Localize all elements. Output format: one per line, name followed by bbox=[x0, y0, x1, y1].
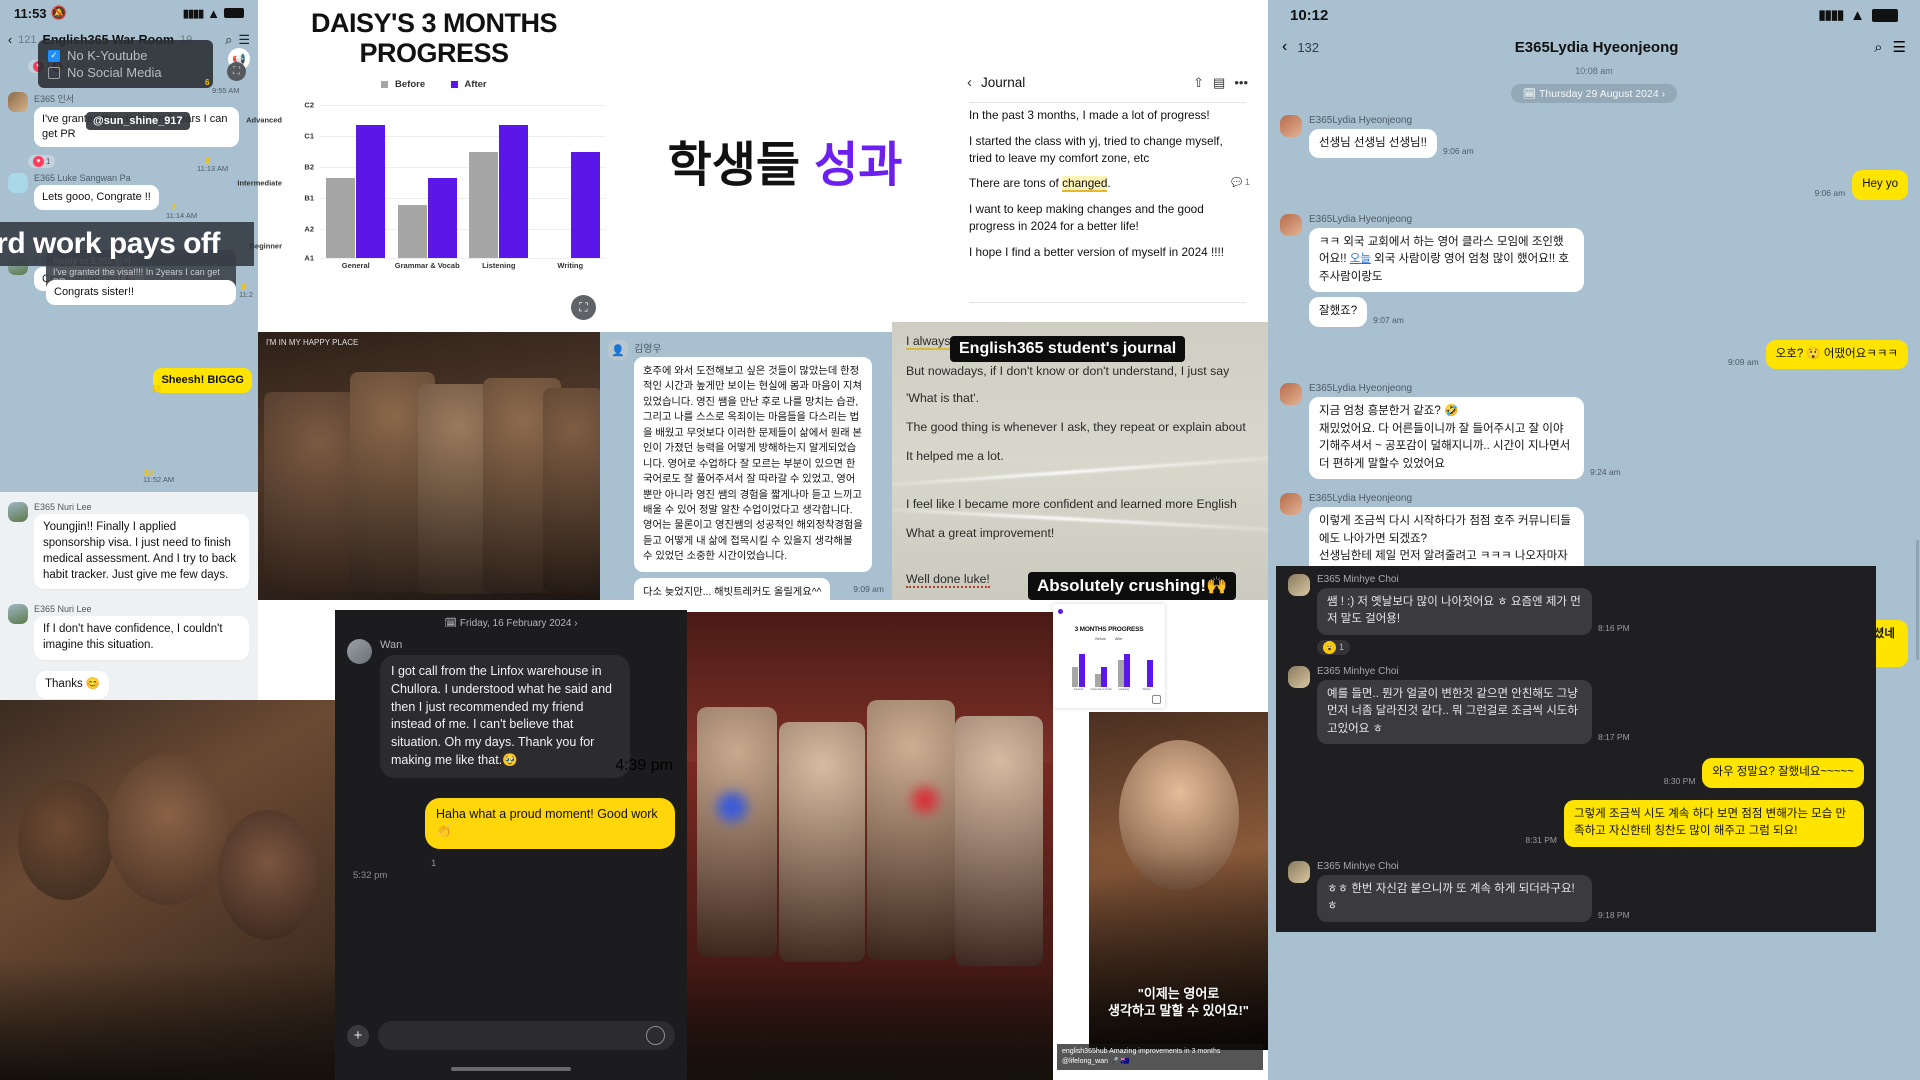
message-sender: E365 Nuri Lee bbox=[34, 502, 249, 512]
sticker-caption: Sheesh! BIGGG bbox=[153, 368, 252, 393]
mention-chip[interactable]: @sun_shine_917 bbox=[86, 112, 190, 130]
journal-paragraph: I want to keep making changes and the go… bbox=[969, 201, 1246, 235]
mini-bar-after bbox=[1101, 667, 1107, 687]
message-bubble-outgoing[interactable]: 와우 정말요? 잘했네요~~~~~ bbox=[1702, 758, 1864, 787]
message-input-bar: + bbox=[347, 1021, 675, 1050]
bar-group bbox=[535, 98, 607, 258]
message-bubble[interactable]: 선생님 선생님 선생님!! bbox=[1309, 129, 1437, 158]
message-row-outgoing: Haha what a proud moment! Good work 👏 bbox=[335, 798, 687, 850]
message-row: E365Lydia Hyeonjeong 지금 엄청 흥분한거 같죠? 🤣 재밌… bbox=[1268, 381, 1920, 481]
student-video-thumbnail: "이제는 영어로 생각하고 말할 수 있어요!" bbox=[1089, 712, 1268, 1050]
emoji-icon[interactable] bbox=[646, 1026, 665, 1045]
message-time: 9:06 am bbox=[1443, 146, 1474, 158]
chart-plot-area: C2 C1 B2 B1 A2 A1 Advanced Intermediate … bbox=[258, 98, 610, 288]
korean-review-panel: 👤 김영우 호주에 와서 도전해보고 싶은 것들이 많았는데 한정적인 시간과 … bbox=[600, 332, 892, 600]
x-tick-label: Grammar & Vocab bbox=[392, 261, 464, 270]
mini-bar-group bbox=[1090, 667, 1113, 687]
home-indicator bbox=[451, 1067, 571, 1071]
mini-chart-title: 3 MONTHS PROGRESS bbox=[1053, 604, 1165, 633]
wifi-icon: ▲ bbox=[207, 6, 220, 21]
bars-area bbox=[320, 98, 606, 258]
message-time: 8:30 PM bbox=[1664, 776, 1696, 788]
bar-after bbox=[499, 125, 528, 258]
mini-x-tick-label: Writing bbox=[1135, 688, 1158, 691]
right-chat-panel: 😱 10:12 ▮▮▮▮ ▲ ‹ 132 E365Lydia Hyeonjeon… bbox=[1268, 0, 1920, 1080]
y-tick-label: B2 bbox=[304, 163, 314, 172]
surprised-emoji-icon: 😮 bbox=[1323, 641, 1336, 654]
bar-group bbox=[463, 98, 535, 258]
message-row: E365 Minhye Choi 예를 들면.. 뭔가 얼굴이 변한것 같으면 … bbox=[1276, 664, 1876, 746]
back-count: 132 bbox=[1297, 40, 1319, 55]
chart-title: DAISY'S 3 MONTHS PROGRESS bbox=[258, 0, 610, 68]
x-tick-label: General bbox=[320, 261, 392, 270]
mini-bar-before bbox=[1072, 667, 1078, 687]
inline-link[interactable]: 오늘 bbox=[1350, 253, 1371, 265]
checklist-label: No K-Youtube bbox=[67, 48, 147, 63]
message-row: E365 Luke Sangwan Pa Lets gooo, Congrate… bbox=[0, 170, 258, 213]
message-bubble[interactable]: 쌤 ! :) 저 옛날보다 많이 나아젓어요 ㅎ 요즘엔 제가 먼저 말도 걸어… bbox=[1317, 588, 1592, 635]
date-chip-label: Thursday 29 August 2024 bbox=[1539, 88, 1659, 100]
checklist-label: No Social Media bbox=[67, 65, 162, 80]
mini-chart-legend: Before After bbox=[1053, 637, 1165, 641]
legend-swatch-before bbox=[381, 81, 388, 88]
message-time: 8:31 PM bbox=[1525, 835, 1557, 847]
avatar[interactable] bbox=[8, 604, 28, 624]
mini-x-tick-label: Grammar & Vocab bbox=[1090, 688, 1113, 691]
instagram-meta: english365hub Amazing improvements in 3 … bbox=[1057, 1044, 1263, 1070]
legend-item-before: Before bbox=[381, 79, 425, 90]
message-sender: E365 Minhye Choi bbox=[1317, 666, 1630, 677]
bar-group bbox=[320, 98, 392, 258]
y-band-label: Advanced bbox=[246, 116, 282, 125]
avatar[interactable] bbox=[1280, 383, 1302, 405]
video-line: The good thing is whenever I ask, they r… bbox=[906, 420, 1254, 434]
bar-before bbox=[326, 178, 355, 258]
avatar[interactable] bbox=[1288, 574, 1310, 596]
comment-count-badge[interactable]: 💬 1 bbox=[1231, 176, 1250, 189]
message-time: 11:13 AM bbox=[197, 164, 228, 173]
divider bbox=[969, 302, 1246, 303]
expand-icon[interactable]: ⛶ bbox=[571, 295, 596, 320]
video-chip-bottom: Absolutely crushing!🙌 bbox=[1028, 572, 1236, 600]
message-sender: 김영우 bbox=[634, 340, 872, 355]
back-count: 121 bbox=[18, 34, 36, 46]
message-time: 9:07 am bbox=[1373, 315, 1404, 327]
legend-label-before: Before bbox=[395, 79, 425, 90]
y-band-label: Intermediate bbox=[237, 179, 282, 188]
y-tick-label: A2 bbox=[304, 225, 314, 234]
plus-icon[interactable]: + bbox=[347, 1025, 369, 1047]
unread-badge: 6 bbox=[205, 78, 209, 87]
message-sender: E365 Minhye Choi bbox=[1317, 861, 1630, 872]
message-row: E365 Minhye Choi 쌤 ! :) 저 옛날보다 많이 나아젓어요 … bbox=[1276, 572, 1876, 637]
video-line: Well done luke! bbox=[906, 572, 990, 588]
dot-indicator bbox=[1058, 609, 1063, 614]
mini-bar-group bbox=[1135, 660, 1158, 687]
person-icon[interactable]: 👤 bbox=[608, 340, 628, 360]
club-group-photo bbox=[687, 612, 1053, 1080]
y-tick-label: A1 bbox=[304, 254, 314, 263]
journal-paragraph: In the past 3 months, I made a lot of pr… bbox=[969, 107, 1246, 124]
signal-icon: ▮▮▮▮ bbox=[1819, 7, 1844, 23]
review-time: 9:09 am bbox=[853, 584, 884, 594]
reaction-pill[interactable]: ♥ 1 bbox=[28, 155, 55, 168]
chevron-right-icon: › bbox=[574, 618, 577, 629]
avatar[interactable] bbox=[8, 173, 28, 193]
bell-slash-icon: 🔕 bbox=[51, 5, 67, 21]
avatar[interactable] bbox=[347, 639, 372, 664]
mini-x-tick-label: General bbox=[1067, 688, 1090, 691]
more-dots-icon[interactable]: ••• bbox=[1234, 75, 1248, 90]
back-button[interactable]: ‹ bbox=[8, 33, 12, 47]
message-row-outgoing: 9:06 am Hey yo bbox=[1268, 168, 1920, 201]
checklist-item[interactable]: No Social Media bbox=[48, 65, 203, 80]
checkbox-checked-icon[interactable]: ✓ bbox=[48, 50, 60, 62]
video-line: What a great improvement! bbox=[906, 526, 1254, 540]
message-sender: E365Lydia Hyeonjeong bbox=[1309, 115, 1474, 126]
bar-after bbox=[571, 152, 600, 259]
video-line: But nowadays, if I don't know or don't u… bbox=[906, 364, 1254, 378]
group-photo-pub: I'M IN MY HAPPY PLACE bbox=[258, 332, 600, 600]
mini-legend-after: After bbox=[1115, 637, 1123, 641]
message-bubble-outgoing[interactable]: Hey yo bbox=[1852, 170, 1908, 199]
back-button[interactable]: ‹ bbox=[1282, 38, 1287, 56]
review-bubble[interactable]: 호주에 와서 도전해보고 싶은 것들이 많았는데 한정적인 시간과 높게만 보이… bbox=[634, 357, 872, 572]
message-bubble[interactable]: Thanks 😊 bbox=[36, 671, 109, 699]
status-bar: 10:12 ▮▮▮▮ ▲ bbox=[1268, 0, 1920, 30]
paragraph-pre: There are tons of bbox=[969, 176, 1062, 190]
message-time: 11:14 AM bbox=[166, 211, 197, 220]
sticker-message-bubble[interactable]: Sheesh! BIGGG bbox=[153, 368, 252, 393]
message-row: E365 Nuri Lee Youngjin!! Finally I appli… bbox=[0, 492, 258, 592]
avatar[interactable] bbox=[1280, 214, 1302, 236]
journal-header: ‹ Journal ⇧ ▤ ••• bbox=[955, 66, 1260, 95]
message-row-outgoing: 8:31 PM 그렇게 조금씩 시도 계속 하다 보면 점점 변해가는 모습 만… bbox=[1276, 798, 1876, 849]
y-tick-label: B1 bbox=[304, 194, 314, 203]
video-line: 'What is that'. bbox=[906, 391, 1254, 405]
message-sender: E365 Minhye Choi bbox=[1317, 574, 1630, 585]
journal-paragraph: I hope I find a better version of myself… bbox=[969, 244, 1246, 261]
mini-bar-before bbox=[1095, 674, 1101, 687]
date-chip-label: Friday, 16 February 2024 bbox=[460, 618, 572, 629]
message-sender: E365Lydia Hyeonjeong bbox=[1309, 214, 1584, 225]
video-text: I always pretend to under... before. But… bbox=[906, 332, 1254, 588]
search-icon[interactable]: ⌕ bbox=[225, 32, 232, 48]
share-icon[interactable]: ⇧ bbox=[1193, 75, 1204, 91]
legend-item-after: After bbox=[451, 79, 486, 90]
avatar[interactable] bbox=[8, 92, 28, 112]
message-row: E365 Minhye Choi ㅎㅎ 한번 자신감 붙으니까 또 계속 하게 … bbox=[1276, 859, 1876, 924]
review-bubble-2[interactable]: 다소 늦었지만... 해빗트레커도 올릴게요^^ bbox=[634, 578, 830, 607]
mini-bar-group bbox=[1067, 654, 1090, 687]
message-sender: E365 Nuri Lee bbox=[34, 604, 249, 614]
reaction-pill[interactable]: 😮 1 bbox=[1317, 640, 1350, 655]
message-time: 8:16 PM bbox=[1598, 623, 1630, 635]
video-caption: "이제는 영어로 생각하고 말할 수 있어요!" bbox=[1089, 985, 1268, 1020]
mini-bar-after bbox=[1147, 660, 1153, 687]
bar-after bbox=[428, 178, 457, 258]
reaction-count: 1 bbox=[1339, 642, 1344, 652]
journal-paragraph-highlighted: There are tons of changed. 💬 1 bbox=[969, 175, 1246, 192]
message-row: Thanks 😊 bbox=[0, 663, 258, 702]
y-tick-label: C2 bbox=[304, 101, 314, 110]
avatar[interactable] bbox=[8, 502, 28, 522]
hamburger-menu-icon[interactable]: ☰ bbox=[238, 32, 250, 48]
message-bubble-outgoing[interactable]: Haha what a proud moment! Good work 👏 bbox=[425, 798, 675, 850]
journal-panel: ‹ Journal ⇧ ▤ ••• In the past 3 months, … bbox=[955, 66, 1260, 319]
chevron-left-icon[interactable]: ‹ bbox=[967, 74, 972, 91]
mini-bar-after bbox=[1124, 654, 1130, 687]
message-row-outgoing: 8:30 PM 와우 정말요? 잘했네요~~~~~ bbox=[1276, 756, 1876, 789]
outgoing-time: 5:32 pm bbox=[353, 870, 387, 881]
messenger-panel: 🗓 Friday, 16 February 2024 › Wan I got c… bbox=[335, 610, 687, 1080]
message-time: 9:06 am bbox=[1814, 188, 1845, 200]
unread-badge: 18 bbox=[152, 384, 161, 393]
habit-checklist-card: ✓ No K-Youtube No Social Media bbox=[38, 40, 213, 88]
calendar-icon: 🗓 bbox=[444, 618, 457, 629]
message-sender: E365Lydia Hyeonjeong bbox=[1309, 493, 1621, 504]
y-band-label: Beginner bbox=[249, 242, 282, 251]
message-bubble[interactable]: 지금 엄청 흥분한거 같죠? 🤣 재밌었어요. 다 어른들이니까 잘 들어주시고… bbox=[1309, 397, 1584, 479]
mini-bar-group bbox=[1113, 654, 1136, 687]
read-count: 1 bbox=[431, 858, 436, 869]
insta-handle-line2: @lifelong_wan 🎤 🇦🇺 bbox=[1062, 1057, 1258, 1067]
sticker-time: 11:52 AM bbox=[143, 475, 174, 484]
video-line: I feel like I became more confident and … bbox=[906, 497, 1254, 511]
headline-purple: 성과 bbox=[814, 125, 902, 195]
message-time: 11:2 bbox=[239, 290, 253, 299]
message-bubble[interactable]: Congrats sister!! bbox=[46, 280, 236, 305]
message-sender: E365 Luke Sangwan Pa bbox=[34, 173, 159, 183]
message-sender: E365Lydia Hyeonjeong bbox=[1309, 383, 1621, 394]
signal-icon: ▮▮▮▮ bbox=[183, 7, 203, 20]
mini-legend-before: Before bbox=[1095, 637, 1106, 641]
message-time: 8:17 PM bbox=[1598, 732, 1630, 744]
scrollbar[interactable] bbox=[1916, 540, 1919, 660]
first-message-time: 9:55 AM bbox=[212, 86, 240, 95]
left-chat-lower-panel: E365 Nuri Lee Youngjin!! Finally I appli… bbox=[0, 492, 258, 700]
top-timestamp: 10:08 am bbox=[1268, 66, 1920, 76]
status-time: 10:12 bbox=[1290, 7, 1328, 24]
checklist-item[interactable]: ✓ No K-Youtube bbox=[48, 48, 203, 63]
date-chip[interactable]: 🗓 Friday, 16 February 2024 › bbox=[335, 610, 687, 639]
highlighted-word[interactable]: changed bbox=[1062, 176, 1107, 192]
message-bubble[interactable]: ㅎㅎ 한번 자신감 붙으니까 또 계속 하게 되더라구요! ㅎ bbox=[1317, 875, 1592, 922]
celebration-photo bbox=[0, 700, 335, 1080]
chat-title: E365Lydia Hyeonjeong bbox=[1329, 39, 1864, 56]
dark-chat-overlay: E365 Minhye Choi 쌤 ! :) 저 옛날보다 많이 나아젓어요 … bbox=[1276, 566, 1876, 932]
y-axis: C2 C1 B2 B1 A2 A1 Advanced Intermediate … bbox=[258, 98, 320, 258]
expand-icon[interactable] bbox=[1152, 695, 1161, 704]
x-tick-label: Writing bbox=[535, 261, 607, 270]
message-time: 4:39 pm bbox=[615, 757, 673, 775]
student-journal-video: I always pretend to under... before. But… bbox=[892, 322, 1268, 600]
message-row: E365Lydia Hyeonjeong 선생님 선생님 선생님!! 9:06 … bbox=[1268, 113, 1920, 160]
mini-chart-xlabels: GeneralGrammar & VocabListeningWriting bbox=[1067, 688, 1158, 691]
message-row: E365Lydia Hyeonjeong ㅋㅋ 외국 교회에서 하는 영어 클라… bbox=[1268, 212, 1920, 329]
message-row-outgoing: 9:09 am 오호? 😲 어땠어요ㅋㅋㅋ bbox=[1268, 338, 1920, 371]
checkbox-icon[interactable] bbox=[48, 67, 60, 79]
status-bar: 11:53 🔕 ▮▮▮▮ ▲ bbox=[0, 0, 258, 26]
battery-icon bbox=[224, 8, 244, 18]
hamburger-menu-icon[interactable]: ☰ bbox=[1893, 38, 1906, 56]
chart-legend: Before After bbox=[258, 79, 610, 90]
message-bubble[interactable]: ㅋㅋ 외국 교회에서 하는 영어 클라스 모임에 조인했어요!! 오늘 외국 사… bbox=[1309, 228, 1584, 292]
bar-before bbox=[398, 205, 427, 258]
paragraph-post: . bbox=[1107, 176, 1110, 190]
reaction-count: 1 bbox=[46, 157, 50, 166]
x-axis-labels: GeneralGrammar & VocabListeningWriting bbox=[320, 261, 606, 270]
bar-before bbox=[469, 152, 498, 259]
avatar[interactable] bbox=[1288, 666, 1310, 688]
right-nav-bar: ‹ 132 E365Lydia Hyeonjeong ⌕ ☰ bbox=[1268, 30, 1920, 64]
message-time: 9:09 am bbox=[1728, 357, 1759, 369]
mini-chart-bars bbox=[1067, 645, 1158, 687]
journal-title: Journal bbox=[981, 75, 1025, 90]
calendar-icon: 🗓 bbox=[1523, 88, 1536, 100]
message-bubble[interactable]: Lets gooo, Congrate !! bbox=[34, 185, 159, 210]
daisy-progress-chart-panel: DAISY'S 3 MONTHS PROGRESS Before After C… bbox=[258, 0, 610, 332]
comment-icon[interactable]: ▤ bbox=[1213, 75, 1225, 91]
search-icon[interactable]: ⌕ bbox=[1874, 39, 1882, 56]
photo-banner-text: I'M IN MY HAPPY PLACE bbox=[266, 338, 358, 347]
mini-bar-before bbox=[1118, 660, 1124, 687]
hard-work-banner: ard work pays off bbox=[0, 222, 254, 266]
message-input-field[interactable] bbox=[378, 1021, 675, 1050]
message-bubble[interactable]: I got call from the Linfox warehouse in … bbox=[380, 655, 630, 778]
legend-label-after: After bbox=[464, 79, 486, 90]
y-tick-label: C1 bbox=[304, 132, 314, 141]
message-sender: E365 인서 bbox=[34, 92, 239, 105]
headline-korean: 학생들 성과 bbox=[610, 120, 960, 200]
mini-x-tick-label: Listening bbox=[1113, 688, 1136, 691]
scan-icon[interactable]: ⛶ bbox=[227, 62, 246, 81]
banner-text: ard work pays off bbox=[0, 227, 220, 261]
message-bubble[interactable]: Youngjin!! Finally I applied sponsorship… bbox=[34, 514, 249, 589]
journal-paragraph: I started the class with yj, tried to ch… bbox=[969, 133, 1246, 167]
headline-black: 학생들 bbox=[668, 125, 800, 195]
message-bubble-outgoing[interactable]: 그렇게 조금씩 시도 계속 하다 보면 점점 변해가는 모습 만족하고 자신한테… bbox=[1564, 800, 1864, 847]
message-row: E365 Nuri Lee If I don't have confidence… bbox=[0, 592, 258, 663]
mini-progress-chart-card: 3 MONTHS PROGRESS Before After GeneralGr… bbox=[1053, 604, 1165, 708]
avatar[interactable] bbox=[1280, 493, 1302, 515]
insta-handle-line1: english365hub Amazing improvements in 3 … bbox=[1062, 1047, 1258, 1057]
heart-icon: ♥ bbox=[33, 156, 44, 167]
message-bubble[interactable]: If I don't have confidence, I couldn't i… bbox=[34, 616, 249, 660]
battery-icon bbox=[1872, 9, 1898, 22]
x-tick-label: Listening bbox=[463, 261, 535, 270]
wifi-icon: ▲ bbox=[1850, 7, 1865, 24]
message-bubble[interactable]: 예를 들면.. 뭔가 얼굴이 변한것 같으면 안친해도 그냥 먼저 너좀 달라진… bbox=[1317, 680, 1592, 744]
message-bubble-outgoing[interactable]: 오호? 😲 어땠어요ㅋㅋㅋ bbox=[1766, 340, 1908, 369]
message-bubble[interactable]: 잘했죠? bbox=[1309, 297, 1367, 326]
message-row: 👤 김영우 호주에 와서 도전해보고 싶은 것들이 많았는데 한정적인 시간과 … bbox=[600, 332, 892, 610]
bar-group bbox=[392, 98, 464, 258]
message-row: Congrats sister!! bbox=[46, 280, 236, 305]
journal-body: In the past 3 months, I made a lot of pr… bbox=[955, 103, 1260, 260]
mini-bar-after bbox=[1079, 654, 1085, 687]
bar-after bbox=[356, 125, 385, 258]
video-chip-top: English365 student's journal bbox=[950, 336, 1185, 362]
message-sender: Wan bbox=[380, 639, 630, 651]
legend-swatch-after bbox=[451, 81, 458, 88]
avatar[interactable] bbox=[1280, 115, 1302, 137]
message-time: 9:24 am bbox=[1590, 467, 1621, 479]
avatar[interactable] bbox=[1288, 861, 1310, 883]
message-time: 9:18 PM bbox=[1598, 910, 1630, 922]
date-chip[interactable]: 🗓 Thursday 29 August 2024 › bbox=[1511, 84, 1677, 103]
status-time: 11:53 bbox=[14, 6, 47, 21]
